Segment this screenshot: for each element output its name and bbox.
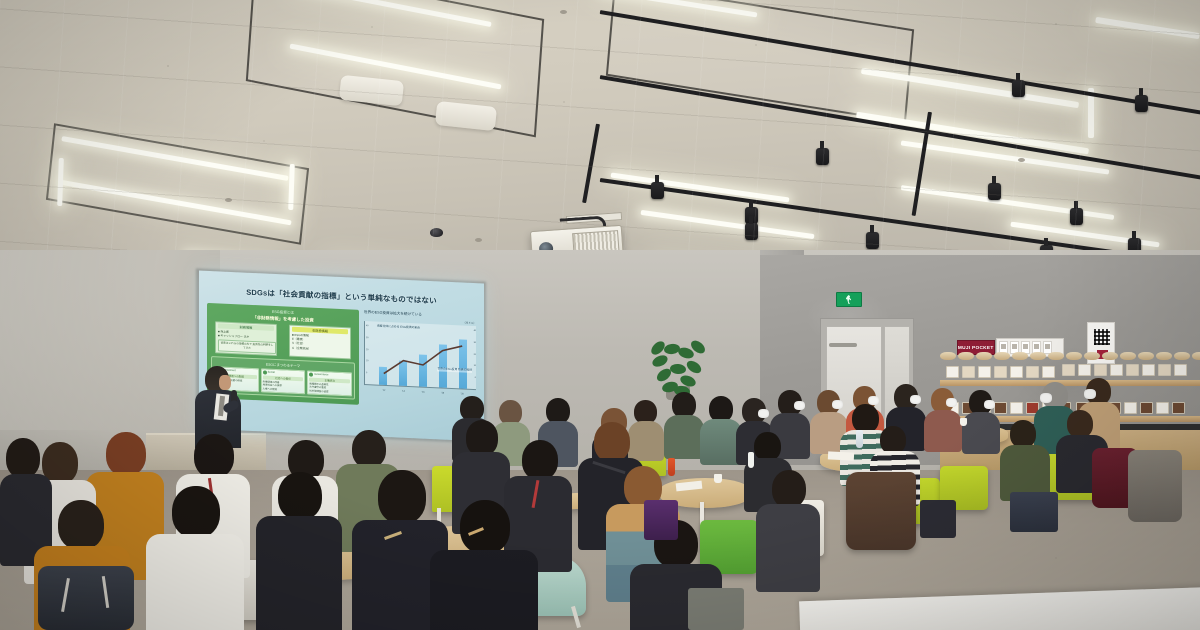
track-spotlight [866, 232, 879, 249]
esg-card-title: Governance [314, 373, 328, 377]
head [58, 500, 104, 550]
coat-on-chair [846, 472, 916, 550]
head [880, 426, 906, 454]
esg-card-item: 社外取締役の設置 [309, 389, 350, 394]
led-strip [861, 68, 1079, 108]
audience-member [256, 472, 342, 630]
tote-bag [688, 588, 744, 630]
led-strip [641, 210, 815, 239]
lighting-track [912, 112, 932, 216]
ceiling-light-panel [246, 0, 544, 137]
head [106, 432, 146, 476]
sprinkler-head [225, 198, 232, 202]
backpack [920, 500, 956, 538]
coat-on-chair [1128, 450, 1182, 522]
audience-member [756, 470, 820, 580]
financial-info-box: 財務情報 ■ 売上高 ■ キャッシュフロー ほか 従来はこれらの指標のみで 投資… [215, 321, 277, 355]
esg-bar-chart: 403020100 403020100 資産全体に占める ESG投資の割合 世界… [364, 321, 476, 390]
chart-y2-axis: 403020100 [474, 330, 476, 379]
head [772, 470, 806, 508]
financial-note: 従来はこれらの指標のみで 投資先の判断をしてきた [218, 340, 276, 354]
led-strip [59, 180, 291, 226]
led-strip [1095, 17, 1200, 39]
track-spotlight [745, 207, 758, 224]
seminar-room-photo: MUJI POCKET SDGsは「 [0, 0, 1200, 630]
running-man-icon [846, 295, 853, 304]
esg-card-item: 人権への配慮 [263, 387, 304, 392]
esg-card-social: Social 社会への責任 労働環境の改善 地域社会への貢献 人権への配慮 [261, 368, 306, 395]
ceiling-light-panel [606, 0, 914, 123]
lighting-track [600, 10, 1200, 120]
sanitizer-bottle [748, 452, 754, 468]
paper-handout [828, 451, 854, 460]
drink-bottle [856, 430, 863, 448]
audience-member [664, 392, 704, 450]
led-strip [288, 164, 295, 210]
led-strip [611, 172, 790, 202]
head [460, 500, 510, 554]
ceiling-light-panel [46, 123, 309, 245]
led-strip [1088, 88, 1094, 138]
door-handle[interactable] [829, 343, 857, 347]
security-camera-icon [430, 228, 443, 237]
face-mask-icon [1040, 393, 1052, 403]
torso [756, 504, 820, 592]
lighting-track [582, 124, 600, 203]
face-mask-icon [794, 401, 805, 410]
track-spotlight [1012, 80, 1025, 97]
led-strip [61, 136, 288, 181]
sprinkler-head [475, 238, 482, 242]
face-mask-icon [1084, 389, 1096, 399]
track-spotlight [1135, 95, 1148, 112]
presenter-face [219, 375, 231, 390]
audience-member [1000, 420, 1050, 492]
torso [146, 534, 244, 630]
esg-card-governance: Governance 企業統治 情報開示の透明性 法令遵守の徹底 社外取締役の設… [307, 370, 352, 397]
head [194, 434, 234, 478]
track-spotlight [651, 182, 664, 199]
head [352, 430, 386, 468]
track-spotlight [745, 223, 758, 240]
track-spotlight [988, 183, 1001, 200]
track-spotlight [1070, 208, 1083, 225]
track-spotlight [816, 148, 829, 165]
drink-bottle [668, 458, 675, 476]
led-strip [1010, 222, 1159, 248]
head [522, 440, 558, 480]
chart-x-tick: '16 [421, 391, 424, 394]
backpack [38, 566, 134, 630]
exit-sign-icon [836, 292, 862, 307]
sprinkler-head [1018, 158, 1025, 162]
audience-member-masked [924, 388, 962, 444]
face-mask-icon [758, 409, 769, 418]
face-mask-icon [984, 400, 995, 409]
nonfinancial-info-box: 非財務情報 ■ ESGの情報 E（環境） S（社会） G（企業統治） [289, 325, 351, 359]
led-strip [856, 112, 1089, 155]
torso [664, 415, 704, 459]
audience-member [430, 500, 538, 630]
face-mask-icon [946, 398, 957, 407]
sprinkler-head [560, 10, 567, 14]
audience-member-masked [962, 390, 1000, 446]
led-strip [294, 0, 491, 27]
shelf-products [1062, 364, 1187, 376]
head [754, 432, 781, 461]
led-strip [57, 158, 64, 206]
audience-member [146, 486, 244, 630]
head [6, 438, 40, 478]
potted-plant [650, 338, 706, 400]
led-strip [289, 44, 501, 90]
head [172, 486, 220, 538]
ceiling-speaker [435, 101, 497, 131]
led-strip [599, 0, 758, 17]
led-strip [901, 185, 1115, 220]
head [594, 422, 630, 462]
chart-x-tick: '12 [382, 389, 385, 392]
tote-bag [1010, 492, 1058, 532]
shelf-products [946, 366, 1055, 378]
esg-letter-s [263, 370, 267, 374]
esg-letter-g [309, 372, 313, 376]
backpack [644, 500, 678, 540]
torso [962, 412, 1000, 454]
head [1067, 410, 1093, 438]
chart-x-tick: '14 [402, 390, 405, 393]
torso [430, 550, 538, 630]
head [1010, 420, 1036, 448]
head [466, 420, 498, 456]
paper-cup [960, 418, 967, 426]
led-strip [901, 140, 1110, 174]
chart-x-tick: '18 [441, 392, 444, 395]
torso [924, 410, 962, 452]
lighting-track [600, 75, 1200, 185]
muji-pocket-sign-label: MUJI POCKET [958, 345, 994, 351]
ceiling-speaker [339, 75, 404, 106]
paper-cup [714, 474, 722, 483]
head [278, 472, 322, 520]
esg-card-title: Social [268, 371, 275, 374]
chart-y-axis: 403020100 [366, 325, 368, 374]
face-mask-icon [910, 395, 921, 404]
head [378, 470, 426, 524]
bread-display [940, 352, 1200, 360]
torso [256, 516, 342, 630]
